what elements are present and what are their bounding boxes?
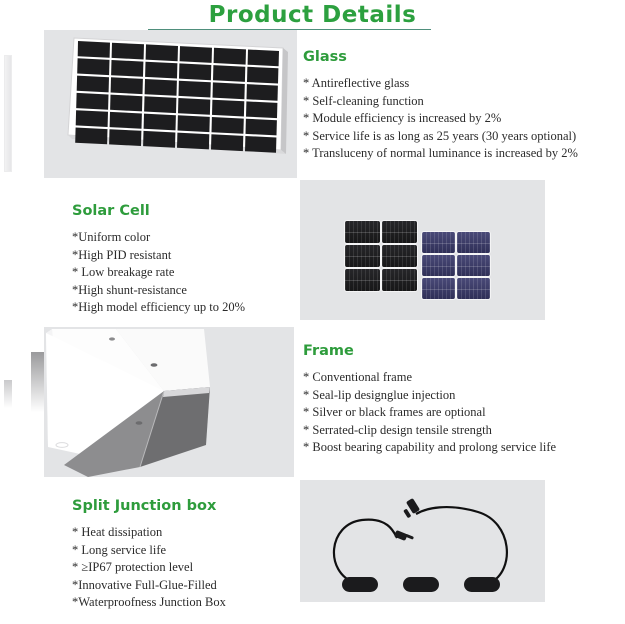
solar-cell-poly [422,255,455,276]
mono-cell-group [345,221,417,291]
list-item: * Transluceny of normal luminance is inc… [303,145,603,163]
aluminum-frame-photo [44,327,294,477]
list-item: * Conventional frame [303,369,603,387]
feature-list-split-junction-box: * Heat dissipation * Long service life *… [72,524,302,612]
solar-cell-mono [382,221,417,243]
list-item: *Innovative Full-Glue-Filled [72,577,302,595]
section-frame: Frame * Conventional frame * Seal-lip de… [303,342,603,457]
list-item: * Service life is as long as 25 years (3… [303,128,603,146]
list-item: *Uniform color [72,229,302,247]
solar-cell-mono [345,245,380,267]
feature-list-solar-cell: *Uniform color *High PID resistant * Low… [72,229,302,317]
solar-cell-mono [382,245,417,267]
list-item: *High shunt-resistance [72,282,302,300]
feature-list-frame: * Conventional frame * Seal-lip designgl… [303,369,603,457]
list-item: * Serrated-clip design tensile strength [303,422,603,440]
section-solar-cell: Solar Cell *Uniform color *High PID resi… [72,202,302,317]
list-item: *High PID resistant [72,247,302,265]
feature-list-glass: * Antireflective glass * Self-cleaning f… [303,75,603,163]
list-item: * Seal-lip designglue injection [303,387,603,405]
aluminum-frame-illustration [44,327,294,477]
section-split-junction-box: Split Junction box * Heat dissipation * … [72,497,302,612]
section-heading-split-junction-box: Split Junction box [72,497,302,515]
solar-cell-mono [345,269,380,291]
solar-cell-poly [457,232,490,253]
junction-box-unit [403,577,439,592]
junction-box-unit [342,577,378,592]
section-heading-glass: Glass [303,48,603,66]
solar-cell-mono [345,221,380,243]
junction-box-unit [464,577,500,592]
solar-cell-mono [382,269,417,291]
solar-cell-poly [457,255,490,276]
clipped-image-sliver-second-lower [31,352,45,412]
poly-cell-group [422,232,490,299]
junction-box-photo [300,480,545,602]
solar-panel-photo [44,30,297,178]
list-item: * Silver or black frames are optional [303,404,603,422]
list-item: * ≥IP67 protection level [72,559,302,577]
list-item: *High model efficiency up to 20% [72,299,302,317]
section-glass: Glass * Antireflective glass * Self-clea… [303,48,603,163]
list-item: * Long service life [72,542,302,560]
solar-cell-poly [422,232,455,253]
list-item: * Self-cleaning function [303,93,603,111]
page-header: Product Details [0,0,625,32]
solar-cells-photo [300,180,545,320]
solar-cell-poly [457,278,490,299]
section-heading-frame: Frame [303,342,603,360]
list-item: * Boost bearing capability and prolong s… [303,439,603,457]
clipped-image-sliver-left-lower [4,380,12,408]
list-item: * Low breakage rate [72,264,302,282]
section-heading-solar-cell: Solar Cell [72,202,302,220]
solar-panel-illustration [44,30,297,178]
list-item: *Waterproofness Junction Box [72,594,302,612]
list-item: * Antireflective glass [303,75,603,93]
list-item: * Module efficiency is increased by 2% [303,110,603,128]
solar-cell-poly [422,278,455,299]
clipped-image-sliver-left-upper [4,55,12,172]
list-item: * Heat dissipation [72,524,302,542]
page-title: Product Details [0,0,625,29]
